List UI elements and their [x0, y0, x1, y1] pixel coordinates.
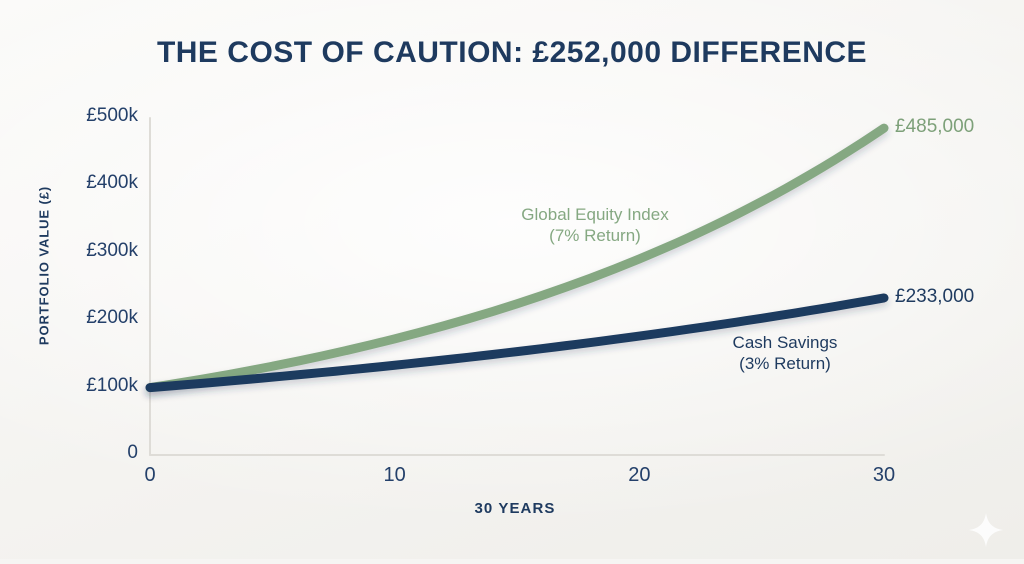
endpoint-label-global-equity-index: £485,000	[895, 116, 974, 138]
chart-plot-area: PORTFOLIO VALUE (£) 30 YEARS £500k£400k£…	[0, 0, 1024, 559]
x-tick-label: 20	[599, 464, 679, 487]
series-annotation-global-equity-index: Global Equity Index (7% Return)	[495, 204, 695, 247]
series-annotation-cash-savings: Cash Savings (3% Return)	[700, 332, 870, 375]
x-tick-label: 0	[110, 464, 190, 487]
annotation-cash-sublabel: (3% Return)	[700, 353, 870, 374]
annotation-equity-sublabel: (7% Return)	[495, 225, 695, 246]
endpoint-label-cash-savings: £233,000	[895, 286, 974, 308]
page-title: THE COST OF CAUTION: £252,000 DIFFERENCE	[0, 36, 1024, 70]
annotation-equity-name: Global Equity Index	[495, 204, 695, 225]
x-axis-tick-labels: 0102030	[0, 0, 1024, 559]
x-tick-label: 30	[844, 464, 924, 487]
x-tick-label: 10	[355, 464, 435, 487]
annotation-cash-name: Cash Savings	[700, 332, 870, 353]
